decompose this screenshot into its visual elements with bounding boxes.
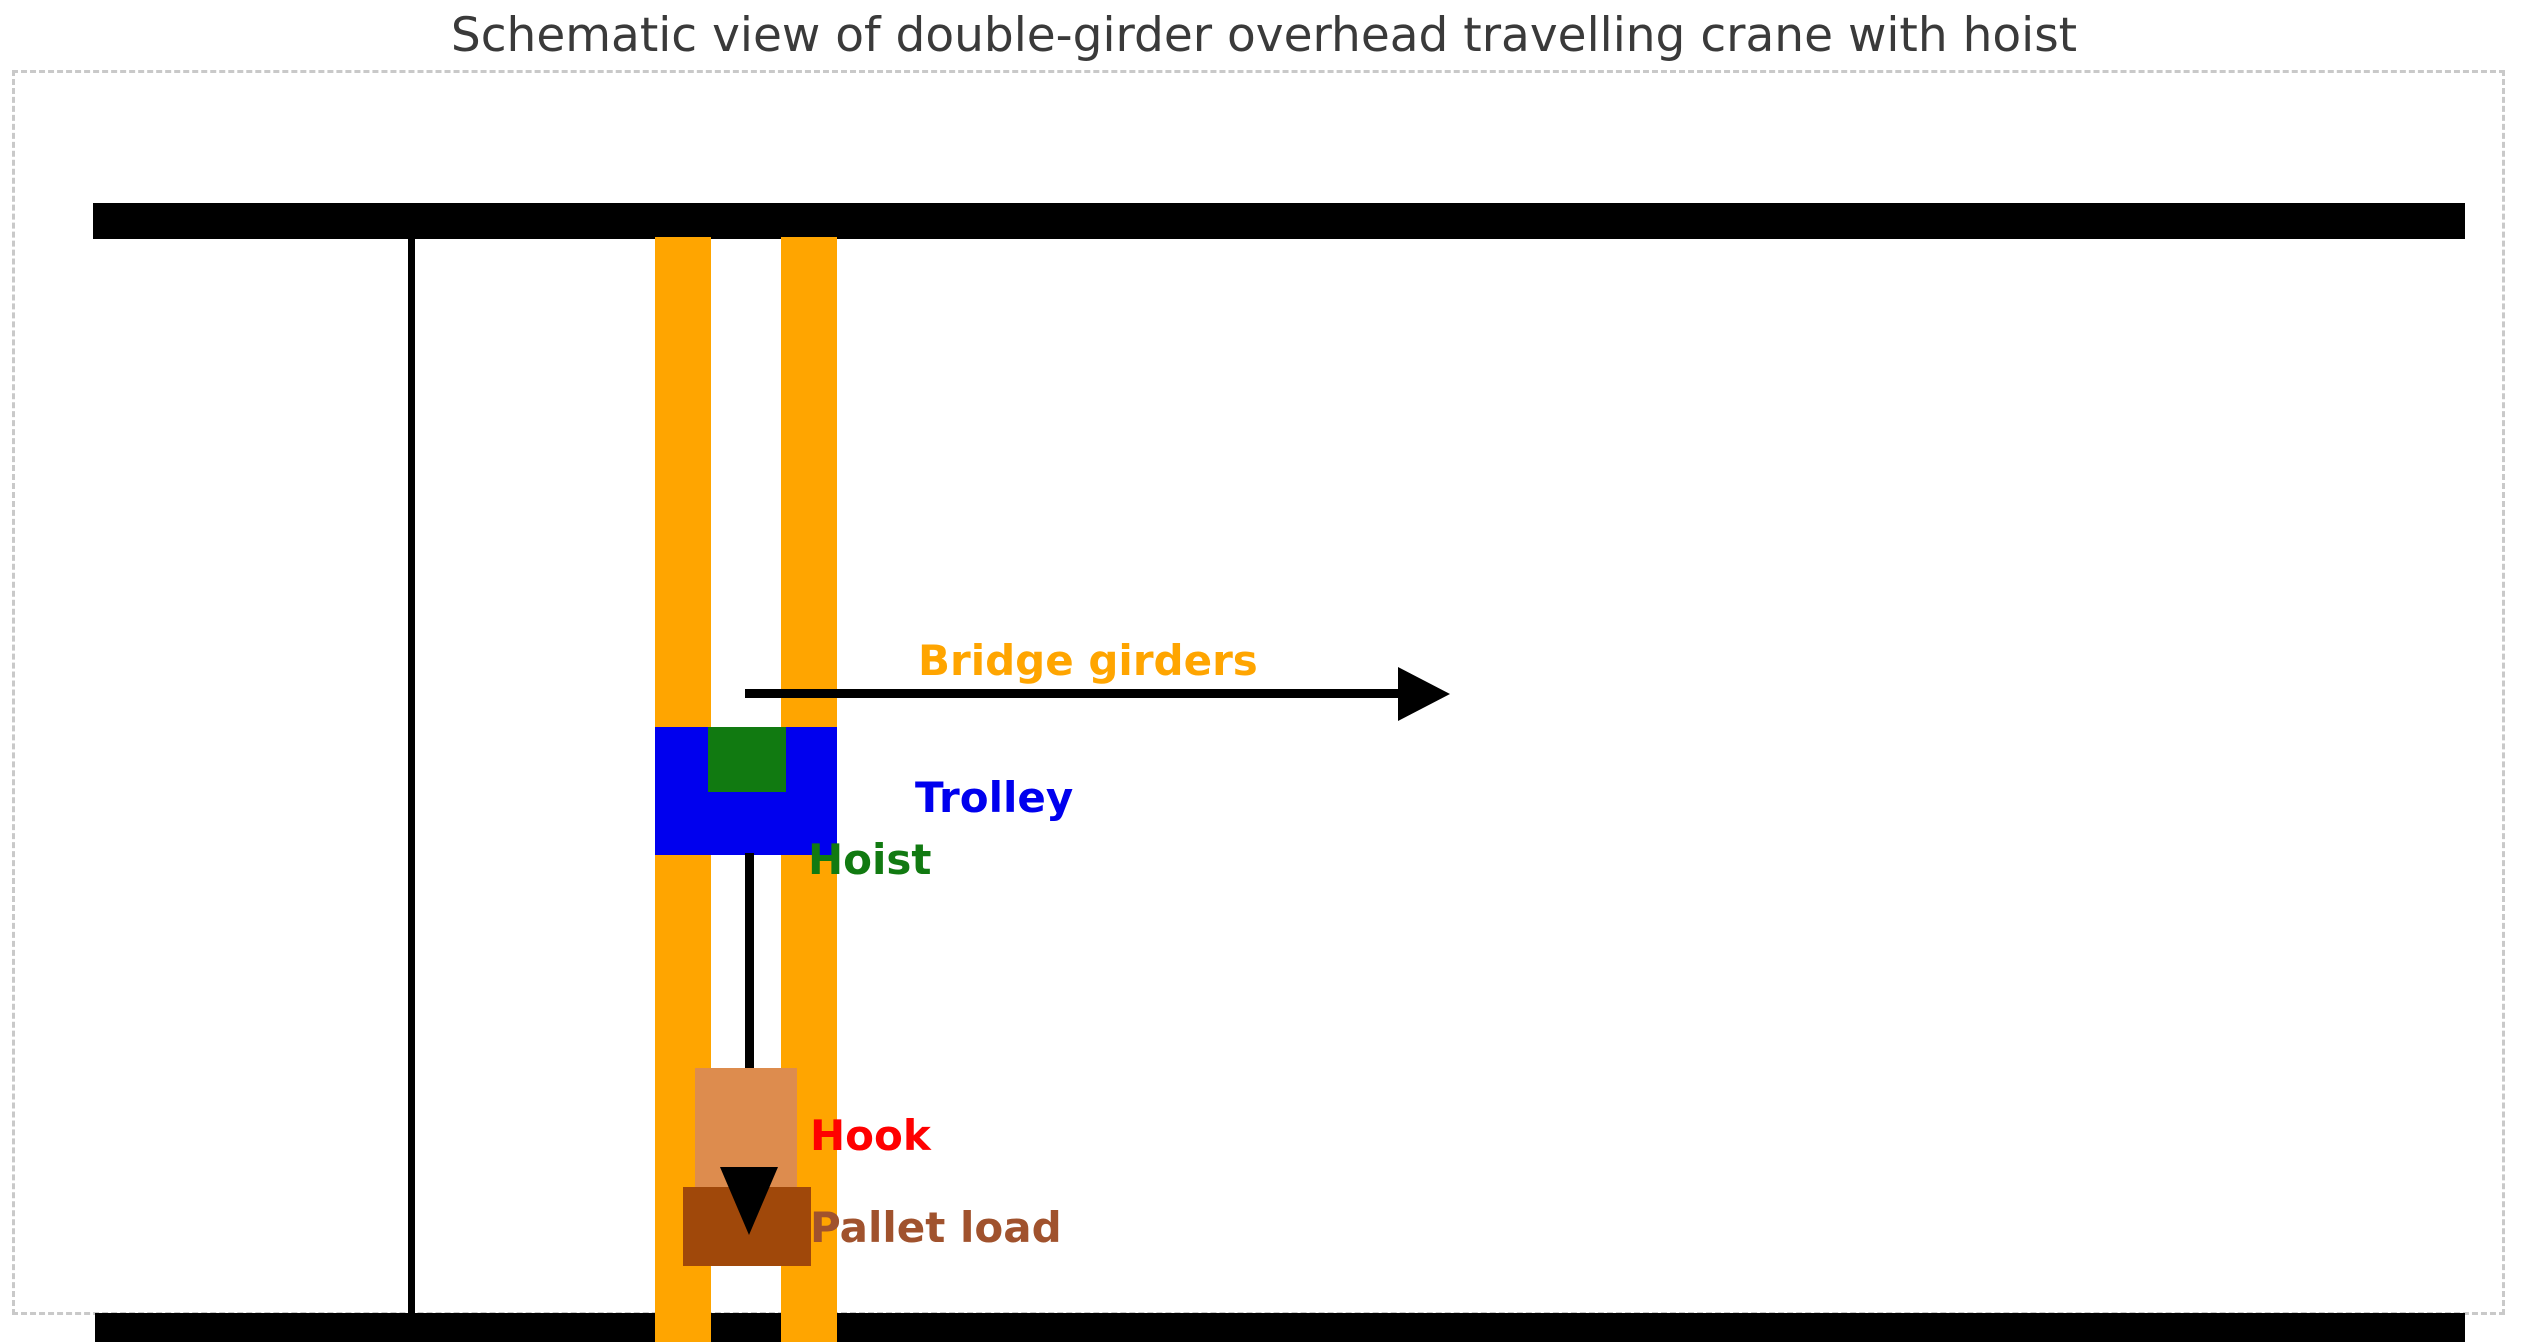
top-runway-rail: [93, 203, 2465, 239]
label-hoist: Hoist: [808, 835, 931, 884]
hoist-block: [708, 727, 786, 792]
bottom-runway-rail: [95, 1313, 2465, 1342]
hoist-lowering-arrowhead-icon: [720, 1167, 778, 1235]
plot-frame: Bridge girders Trolley Hoist Hook Pallet…: [12, 70, 2505, 1315]
crane-travel-span-arrow-line: [408, 233, 415, 1338]
label-hook: Hook: [810, 1111, 931, 1160]
diagram-canvas: Schematic view of double-girder overhead…: [0, 0, 2528, 1342]
trolley-travel-arrowhead-icon: [1398, 667, 1450, 721]
label-pallet-load: Pallet load: [810, 1203, 1062, 1252]
crane-travel-span-arrowhead-icon: [384, 1321, 440, 1342]
trolley-travel-arrow-line: [745, 689, 1405, 698]
page-title: Schematic view of double-girder overhead…: [0, 8, 2528, 64]
label-trolley: Trolley: [915, 773, 1073, 822]
label-bridge-girders: Bridge girders: [918, 636, 1258, 685]
